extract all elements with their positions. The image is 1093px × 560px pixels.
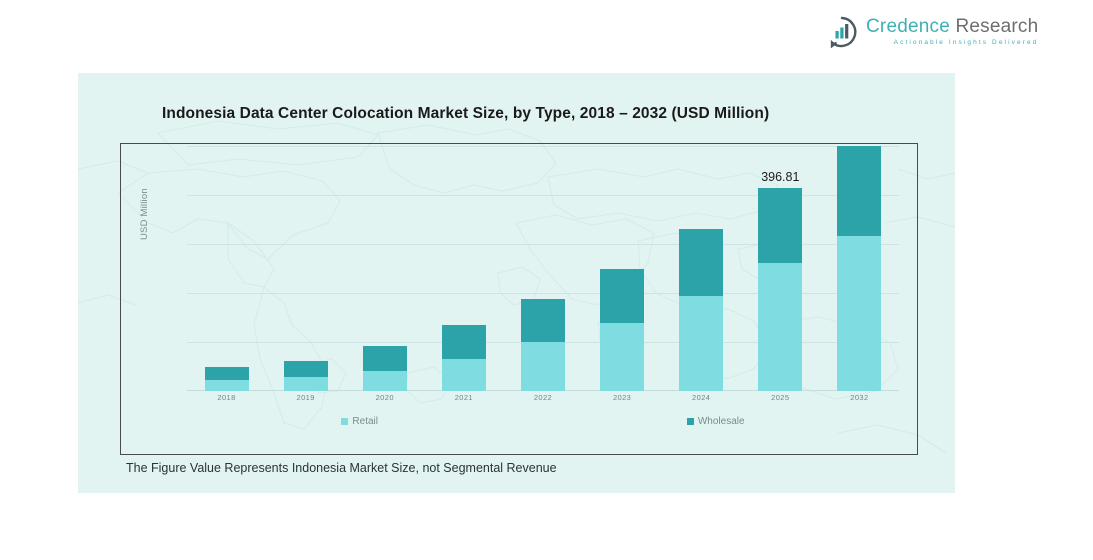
legend-item-retail[interactable]: Retail: [341, 416, 378, 427]
x-tick-2022: 2022: [521, 393, 565, 402]
bar-segment-wholesale-2021[interactable]: [442, 325, 486, 359]
bar-group-2020[interactable]: [363, 146, 407, 391]
brand-logo: Credence Research Actionable Insights De…: [826, 16, 1038, 48]
bar-segment-wholesale-2023[interactable]: [600, 269, 644, 323]
bar-segment-retail-2032[interactable]: [837, 236, 881, 391]
x-tick-2023: 2023: [600, 393, 644, 402]
brand-text: Credence Research Actionable Insights De…: [866, 17, 1038, 47]
brand-name-secondary: Research: [950, 16, 1038, 37]
x-tick-2018: 2018: [205, 393, 249, 402]
brand-name-primary: Credence: [866, 16, 950, 37]
bar-segment-retail-2020[interactable]: [363, 371, 407, 391]
y-axis-label: USD Million: [139, 188, 150, 240]
bar-segment-retail-2025[interactable]: [758, 263, 802, 391]
bar-segment-retail-2019[interactable]: [284, 377, 328, 391]
bar-segment-wholesale-2020[interactable]: [363, 346, 407, 370]
bar-segment-wholesale-2018[interactable]: [205, 367, 249, 381]
plot-area: 396.811,213.80: [187, 146, 899, 391]
x-tick-2019: 2019: [284, 393, 328, 402]
bar-segment-wholesale-2025[interactable]: [758, 188, 802, 262]
bar-group-2032[interactable]: 1,213.80: [837, 146, 881, 391]
brand-tagline: Actionable Insights Delivered: [866, 40, 1038, 47]
legend-swatch-retail: [341, 418, 348, 425]
legend-item-wholesale[interactable]: Wholesale: [687, 416, 745, 427]
bar-segment-wholesale-2032[interactable]: [837, 146, 881, 236]
brand-title: Credence Research: [866, 17, 1038, 36]
bar-segment-retail-2023[interactable]: [600, 323, 644, 391]
bar-segment-wholesale-2022[interactable]: [521, 299, 565, 342]
bar-group-2025[interactable]: 396.81: [758, 146, 802, 391]
bar-group-2018[interactable]: [205, 146, 249, 391]
legend-label-retail: Retail: [352, 416, 378, 427]
bar-segment-retail-2021[interactable]: [442, 359, 486, 391]
x-axis-tick-labels: 201820192020202120222023202420252032: [187, 393, 899, 402]
chart-footnote: The Figure Value Represents Indonesia Ma…: [126, 461, 557, 475]
chart-frame: USD Million 396.811,213.80 2018201920202…: [120, 143, 918, 455]
bar-chart-circle-logo-icon: [826, 16, 858, 48]
x-tick-2024: 2024: [679, 393, 723, 402]
bar-segment-wholesale-2019[interactable]: [284, 361, 328, 377]
x-tick-2021: 2021: [442, 393, 486, 402]
bar-group-2022[interactable]: [521, 146, 565, 391]
legend-label-wholesale: Wholesale: [698, 416, 745, 427]
bar-group-2023[interactable]: [600, 146, 644, 391]
x-tick-2025: 2025: [758, 393, 802, 402]
bar-group-2021[interactable]: [442, 146, 486, 391]
chart-legend: Retail Wholesale: [187, 416, 899, 427]
bar-segment-wholesale-2024[interactable]: [679, 229, 723, 297]
x-tick-2032: 2032: [837, 393, 881, 402]
page-title: Indonesia Data Center Colocation Market …: [162, 105, 769, 123]
bar-group-2024[interactable]: [679, 146, 723, 391]
bar-group-2019[interactable]: [284, 146, 328, 391]
legend-swatch-wholesale: [687, 418, 694, 425]
bar-segment-retail-2022[interactable]: [521, 342, 565, 391]
bar-segment-retail-2018[interactable]: [205, 380, 249, 391]
chart-panel: Indonesia Data Center Colocation Market …: [78, 73, 955, 493]
bar-segment-retail-2024[interactable]: [679, 296, 723, 391]
x-tick-2020: 2020: [363, 393, 407, 402]
bar-value-label-2025: 396.81: [761, 170, 799, 184]
bar-series-container: 396.811,213.80: [187, 146, 899, 391]
